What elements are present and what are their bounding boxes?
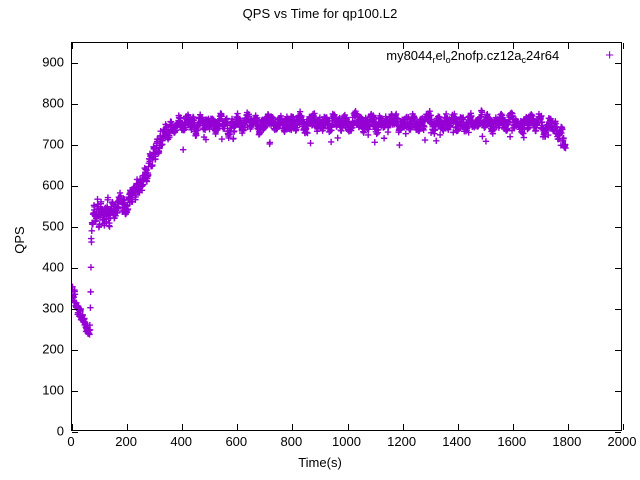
- y-tick-label: 600: [8, 178, 64, 193]
- y-tick-mark: [615, 63, 621, 64]
- y-tick-mark: [72, 350, 78, 351]
- y-tick-label: 500: [8, 219, 64, 234]
- chart-root: QPS vs Time for qp100.L2 QPS Time(s) 010…: [0, 0, 640, 480]
- x-tick-label: 800: [281, 434, 303, 449]
- x-tick-label: 400: [170, 434, 192, 449]
- x-tick-mark: [127, 43, 128, 49]
- x-tick-mark: [182, 424, 183, 430]
- y-tick-mark: [615, 227, 621, 228]
- x-tick-mark: [513, 424, 514, 430]
- y-tick-mark: [72, 432, 78, 433]
- chart-title: QPS vs Time for qp100.L2: [0, 6, 640, 21]
- legend: my8044relo2nofp.cz12ac24r64 +: [386, 48, 614, 63]
- y-tick-mark: [72, 104, 78, 105]
- x-tick-mark: [72, 43, 73, 49]
- y-tick-label: 700: [8, 137, 64, 152]
- x-tick-label: 200: [115, 434, 137, 449]
- x-tick-mark: [458, 424, 459, 430]
- x-axis-title: Time(s): [0, 455, 640, 470]
- y-tick-mark: [72, 145, 78, 146]
- x-tick-label: 1000: [332, 434, 361, 449]
- y-tick-label: 100: [8, 383, 64, 398]
- x-tick-mark: [237, 424, 238, 430]
- x-tick-label: 2000: [608, 434, 637, 449]
- x-tick-mark: [348, 43, 349, 49]
- y-tick-mark: [615, 309, 621, 310]
- x-tick-label: 1200: [387, 434, 416, 449]
- y-tick-mark: [72, 309, 78, 310]
- x-axis-tick-labels: 0200400600800100012001400160018002000: [71, 434, 622, 454]
- legend-series-label: my8044relo2nofp.cz12ac24r64: [386, 48, 559, 63]
- scatter-series-points: [72, 43, 621, 430]
- y-tick-mark: [615, 350, 621, 351]
- x-tick-mark: [292, 424, 293, 430]
- x-tick-mark: [182, 43, 183, 49]
- x-tick-mark: [237, 43, 238, 49]
- y-tick-mark: [72, 227, 78, 228]
- y-tick-label: 300: [8, 301, 64, 316]
- x-tick-mark: [292, 43, 293, 49]
- y-tick-label: 400: [8, 260, 64, 275]
- legend-marker-plus-icon: +: [605, 48, 614, 63]
- y-tick-mark: [72, 268, 78, 269]
- y-tick-mark: [72, 391, 78, 392]
- y-tick-mark: [72, 63, 78, 64]
- x-tick-label: 600: [225, 434, 247, 449]
- x-tick-label: 1600: [497, 434, 526, 449]
- x-tick-label: 1400: [442, 434, 471, 449]
- y-tick-mark: [615, 145, 621, 146]
- x-tick-mark: [623, 424, 624, 430]
- plot-frame: [71, 42, 622, 431]
- y-tick-label: 0: [8, 424, 64, 439]
- x-tick-mark: [403, 424, 404, 430]
- y-tick-mark: [615, 391, 621, 392]
- x-tick-label: 0: [67, 434, 74, 449]
- y-tick-mark: [615, 268, 621, 269]
- x-tick-mark: [127, 424, 128, 430]
- y-tick-mark: [615, 432, 621, 433]
- y-tick-mark: [615, 104, 621, 105]
- y-tick-mark: [72, 186, 78, 187]
- x-tick-mark: [568, 424, 569, 430]
- plot-area: [72, 43, 621, 430]
- x-tick-label: 1800: [552, 434, 581, 449]
- y-tick-label: 800: [8, 96, 64, 111]
- x-tick-mark: [623, 43, 624, 49]
- y-tick-label: 900: [8, 55, 64, 70]
- y-tick-label: 200: [8, 342, 64, 357]
- x-tick-mark: [348, 424, 349, 430]
- x-tick-mark: [72, 424, 73, 430]
- y-axis-tick-labels: 0100200300400500600700800900: [0, 42, 64, 431]
- y-tick-mark: [615, 186, 621, 187]
